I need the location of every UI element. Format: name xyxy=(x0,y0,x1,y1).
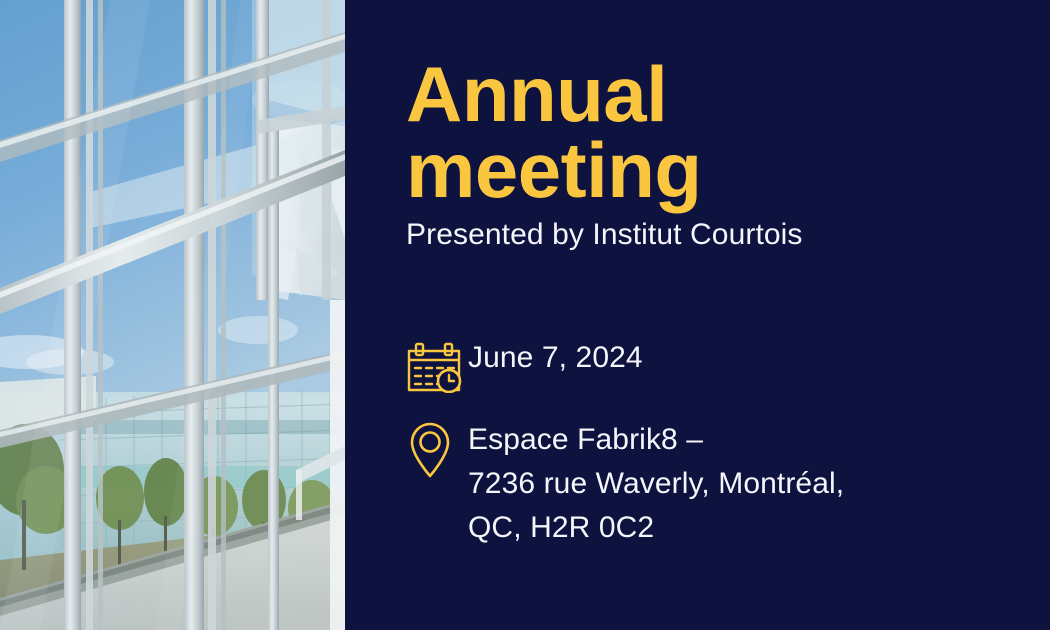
event-details: June 7, 2024 Espace Fabrik8 – 7236 rue W… xyxy=(406,335,1026,550)
event-date-text: June 7, 2024 xyxy=(468,335,1026,380)
hero-photo xyxy=(0,0,345,630)
detail-row-date: June 7, 2024 xyxy=(406,335,1026,393)
detail-row-location: Espace Fabrik8 – 7236 rue Waverly, Montr… xyxy=(406,417,1026,550)
title-block: Annual meeting Presented by Institut Cou… xyxy=(406,57,1026,253)
slide-title: Annual meeting xyxy=(406,57,1026,208)
presentation-slide: Annual meeting Presented by Institut Cou… xyxy=(0,0,1050,630)
event-location-text: Espace Fabrik8 – 7236 rue Waverly, Montr… xyxy=(468,417,1026,550)
slide-subtitle: Presented by Institut Courtois xyxy=(406,218,1026,253)
content-panel: Annual meeting Presented by Institut Cou… xyxy=(345,0,1050,630)
calendar-clock-icon xyxy=(406,335,468,393)
atrium-photo-illustration xyxy=(0,0,345,630)
map-pin-icon xyxy=(406,417,468,479)
